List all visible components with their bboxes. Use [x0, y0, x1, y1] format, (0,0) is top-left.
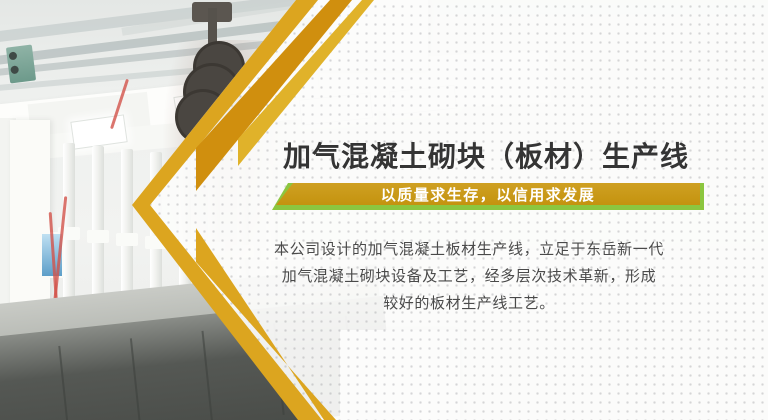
body-line-3: 较好的板材生产线工艺。: [226, 290, 712, 317]
column-cap: [87, 230, 109, 243]
subtitle-gold-bar: 以质量求生存，以信用求发展: [276, 183, 700, 205]
subtitle-text: 以质量求生存，以信用求发展: [276, 183, 700, 205]
body-paragraph: 本公司设计的加气混凝土板材生产线，立足于东岳新一代 加气混凝土砌块设备及工艺，经…: [226, 236, 712, 317]
conveyor-seam: [201, 331, 213, 420]
conveyor-seam: [130, 338, 142, 420]
conveyor-seam: [58, 346, 70, 420]
body-line-2: 加气混凝土砌块设备及工艺，经多层次技术革新，形成: [226, 263, 712, 290]
subtitle-ribbon: 以质量求生存，以信用求发展: [272, 183, 704, 211]
machine-column: [121, 149, 133, 313]
column-cap: [116, 233, 138, 246]
promo-banner: 加气混凝土砌块（板材）生产线 以质量求生存，以信用求发展 本公司设计的加气混凝土…: [0, 0, 768, 420]
page-title: 加气混凝土砌块（板材）生产线: [283, 135, 689, 175]
electrical-box: [6, 45, 36, 84]
body-line-1: 本公司设计的加气混凝土板材生产线，立足于东岳新一代: [226, 236, 712, 263]
